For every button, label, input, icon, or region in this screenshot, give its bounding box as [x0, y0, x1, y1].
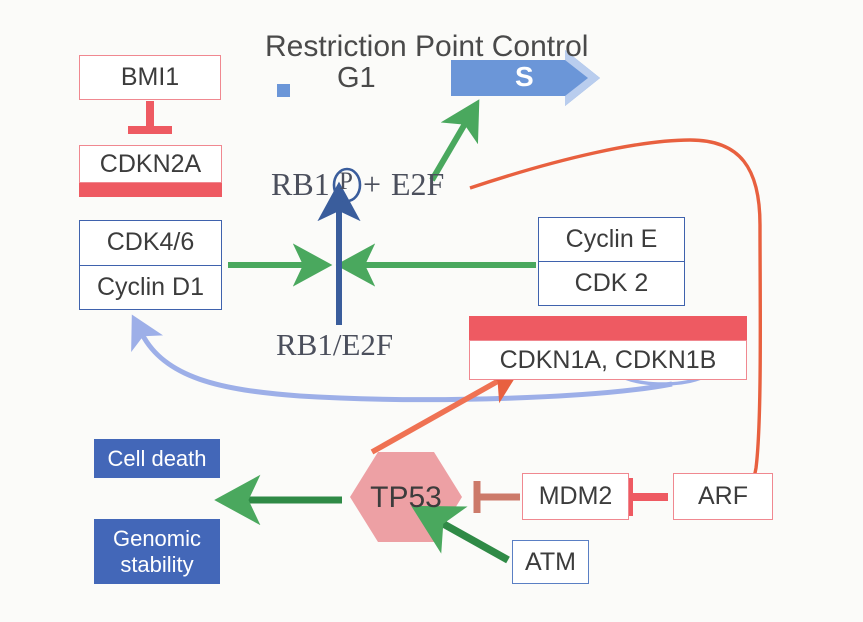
node-atm[interactable]: ATM: [512, 540, 589, 584]
phospho-glyph-label: P: [339, 168, 353, 196]
node-cdkn2a[interactable]: CDKN2A: [79, 145, 222, 183]
arrow-atm-to-tp53: [440, 522, 508, 560]
page-title: Restriction Point Control: [265, 30, 588, 64]
cdkn1a-cdkn1b-red-bar: [469, 316, 747, 340]
node-cdk46-label: CDK4/6: [80, 221, 221, 265]
cdkn2a-red-bar: [79, 183, 222, 197]
node-cdk2-label: CDK 2: [539, 261, 684, 305]
node-mdm2[interactable]: MDM2: [522, 473, 629, 520]
node-cyclin-e-cdk2[interactable]: Cyclin E CDK 2: [538, 217, 685, 306]
e2f-label: E2F: [391, 166, 444, 203]
node-tp53-label[interactable]: TP53: [360, 481, 452, 515]
plus-sign-label: +: [363, 166, 381, 203]
g1-phase-label: G1: [337, 62, 376, 95]
g1-phase-swatch: [277, 84, 290, 97]
s-phase-label: S: [515, 61, 534, 93]
node-arf[interactable]: ARF: [673, 473, 773, 520]
node-bmi1[interactable]: BMI1: [79, 55, 221, 100]
inhibition-mdm2-tp53: [477, 481, 520, 513]
node-cyclind1-label: Cyclin D1: [80, 265, 221, 310]
node-cyclin-e-label: Cyclin E: [539, 218, 684, 261]
genomic-stability-line-1: Genomic: [113, 526, 201, 551]
node-cdk46-cyclind1[interactable]: CDK4/6 Cyclin D1: [79, 220, 222, 310]
inhibition-arf-mdm2: [629, 478, 668, 516]
arrow-tp53-to-cdkn1a: [372, 380, 500, 452]
genomic-stability-line-2: stability: [120, 552, 193, 577]
rb1-phospho-label: RB1: [271, 166, 330, 203]
inhibition-bmi1-cdkn2a: [128, 101, 172, 130]
rb1-e2f-complex-label: RB1/E2F: [276, 327, 393, 363]
node-genomic-stability[interactable]: Genomic stability: [94, 519, 220, 584]
node-cdkn1a-cdkn1b[interactable]: CDKN1A, CDKN1B: [469, 340, 747, 380]
node-cell-death[interactable]: Cell death: [94, 439, 220, 478]
pathway-diagram-canvas: Restriction Point Control G1 S BMI1 CDKN…: [0, 0, 863, 622]
